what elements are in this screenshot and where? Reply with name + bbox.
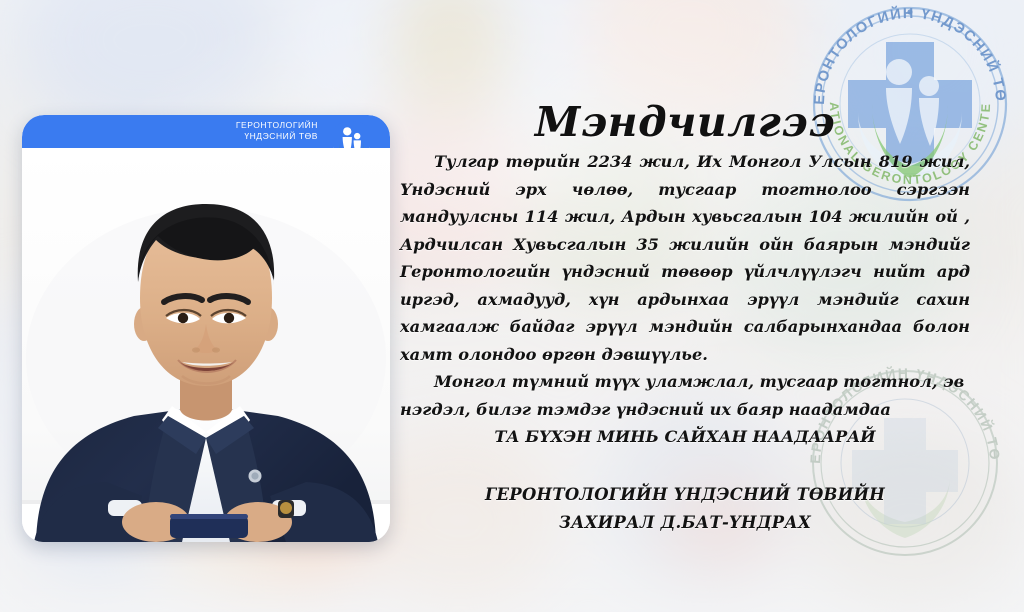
signature-name: ЗАХИРАЛ Д.БАТ-ҮНДРАХ xyxy=(400,509,970,537)
greeting-paragraph-1: Тулгар төрийн 2234 жил, Их Монгол Улсын … xyxy=(400,148,970,368)
logo-cyrillic-line2: ҮНДЭСНИЙ ТӨВ xyxy=(236,131,318,142)
signature-organization: ГЕРОНТОЛОГИЙН ҮНДЭСНИЙ ТӨВИЙН xyxy=(400,481,970,509)
greeting-content: Мэндчилгээ Тулгар төрийн 2234 жил, Их Мо… xyxy=(400,96,970,537)
director-portrait-photo xyxy=(22,148,390,542)
greeting-call-line: ТА БҮХЭН МИНЬ САЙХАН НААДААРАЙ xyxy=(400,423,970,451)
poster-canvas: ГЕРОНТОЛОГИЙН ҮНДЭСНИЙ ТӨВ NATIONAL GERO… xyxy=(0,0,1024,612)
page-title: Мэндчилгээ xyxy=(400,96,970,148)
logo-cyrillic-line1: ГЕРОНТОЛОГИЙН xyxy=(236,120,318,131)
greeting-paragraph-2: Монгол түмний түүх уламжлал, тусгаар тог… xyxy=(400,368,970,423)
signature-block: ГЕРОНТОЛОГИЙН ҮНДЭСНИЙ ТӨВИЙН ЗАХИРАЛ Д.… xyxy=(400,481,970,537)
logo-cyrillic-text: ГЕРОНТОЛОГИЙН ҮНДЭСНИЙ ТӨВ xyxy=(236,120,318,142)
director-photo-card: ГЕРОНТОЛОГИЙН ҮНДЭСНИЙ ТӨВ NATIONAL GERO… xyxy=(22,115,390,542)
